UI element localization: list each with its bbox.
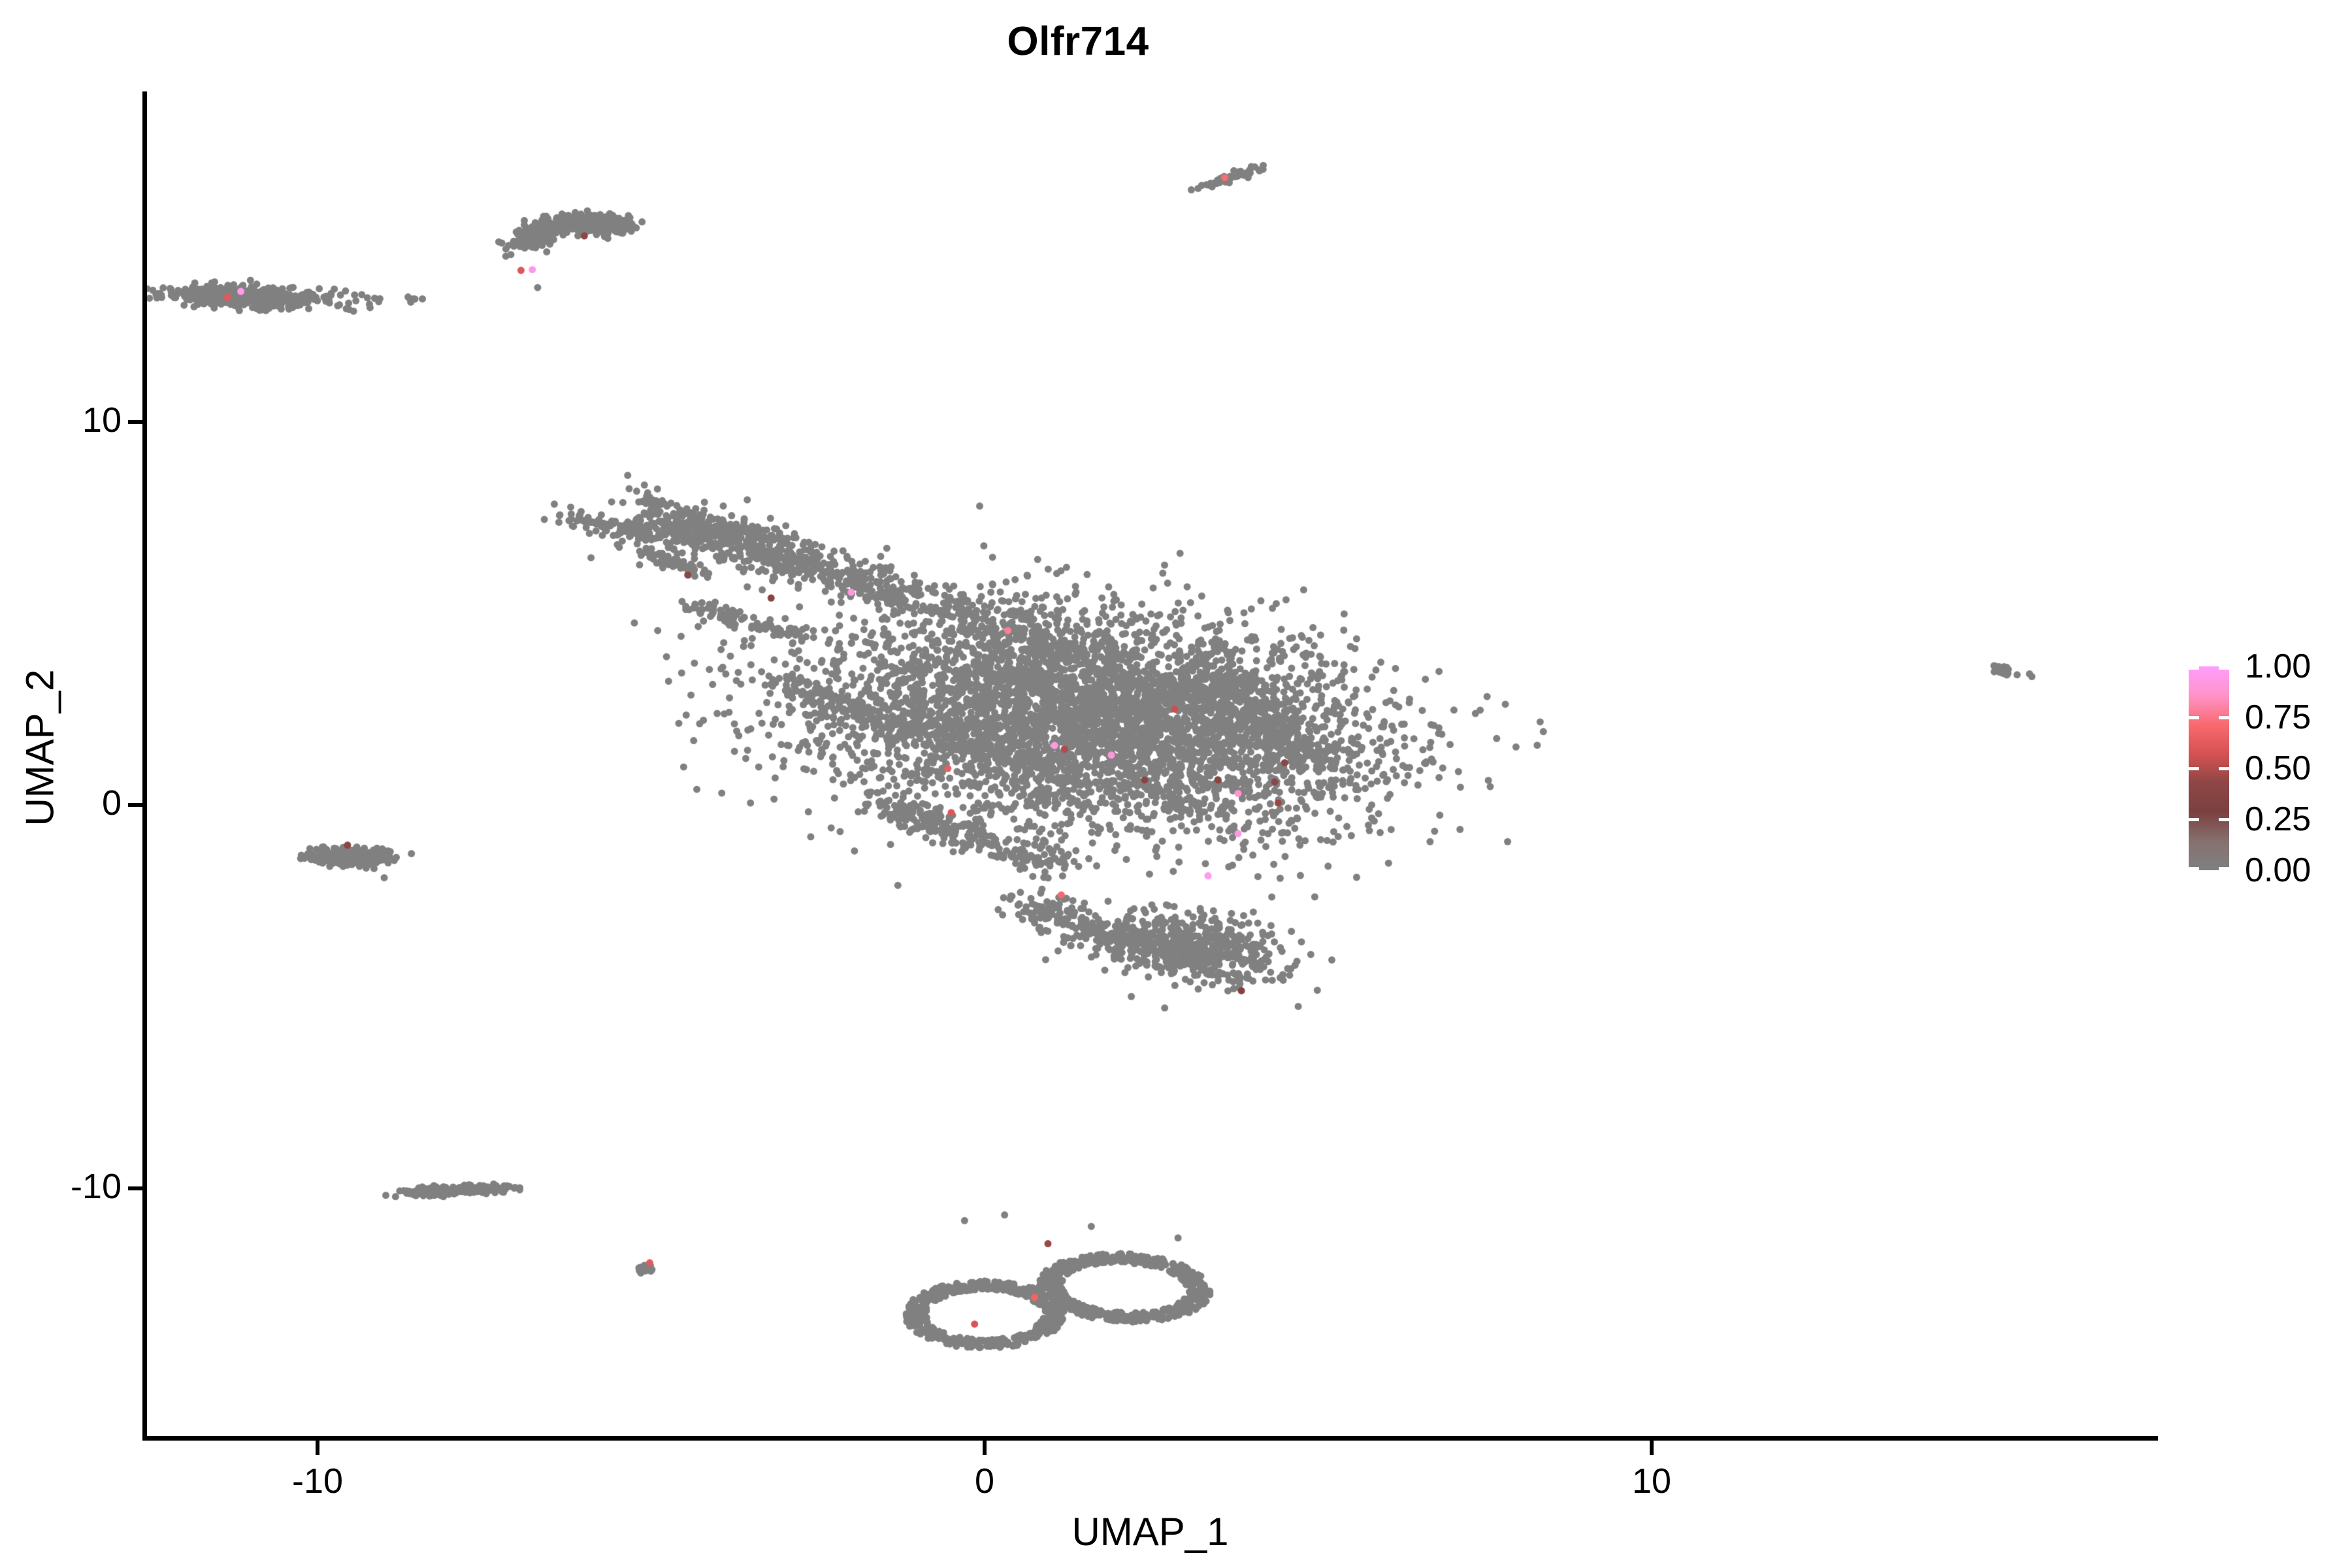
legend-label: 0.75 xyxy=(2245,700,2311,734)
colorbar-legend: 1.000.750.500.250.00 xyxy=(2189,666,2339,882)
x-tick-label: 0 xyxy=(906,1461,1063,1501)
legend-tick-mark xyxy=(2189,818,2199,821)
page-title: Olfr714 xyxy=(0,18,2156,65)
legend-tick-mark xyxy=(2219,867,2229,870)
legend-tick-mark xyxy=(2189,666,2199,670)
x-axis-line xyxy=(142,1436,2158,1441)
legend-tick-mark xyxy=(2219,767,2229,770)
legend-tick-mark xyxy=(2219,666,2229,670)
x-tick-mark xyxy=(316,1441,319,1455)
y-tick-label: 10 xyxy=(82,400,122,440)
legend-tick-mark xyxy=(2189,767,2199,770)
scatter-plot-canvas xyxy=(144,91,2159,1439)
y-axis-title: UMAP_2 xyxy=(18,74,63,1422)
legend-label: 0.50 xyxy=(2245,751,2311,785)
y-axis-line xyxy=(142,91,147,1439)
legend-tick-mark xyxy=(2189,867,2199,870)
y-tick-label: -10 xyxy=(71,1166,122,1207)
x-axis-title: UMAP_1 xyxy=(142,1509,2158,1554)
y-tick-mark xyxy=(128,420,142,424)
x-tick-mark xyxy=(1650,1441,1654,1455)
legend-label: 0.25 xyxy=(2245,802,2311,836)
x-tick-label: 10 xyxy=(1573,1461,1730,1501)
legend-tick-mark xyxy=(2219,716,2229,719)
legend-tick-mark xyxy=(2219,818,2229,821)
legend-tick-mark xyxy=(2189,716,2199,719)
x-tick-mark xyxy=(983,1441,987,1455)
legend-label: 1.00 xyxy=(2245,649,2311,683)
y-tick-mark xyxy=(128,1186,142,1190)
legend-label: 0.00 xyxy=(2245,853,2311,887)
x-tick-label: -10 xyxy=(239,1461,396,1501)
y-tick-mark xyxy=(128,803,142,807)
y-tick-label: 0 xyxy=(102,783,122,823)
umap-feature-plot: Olfr714 100-10-10010 UMAP_1 UMAP_2 1.000… xyxy=(0,0,2352,1568)
